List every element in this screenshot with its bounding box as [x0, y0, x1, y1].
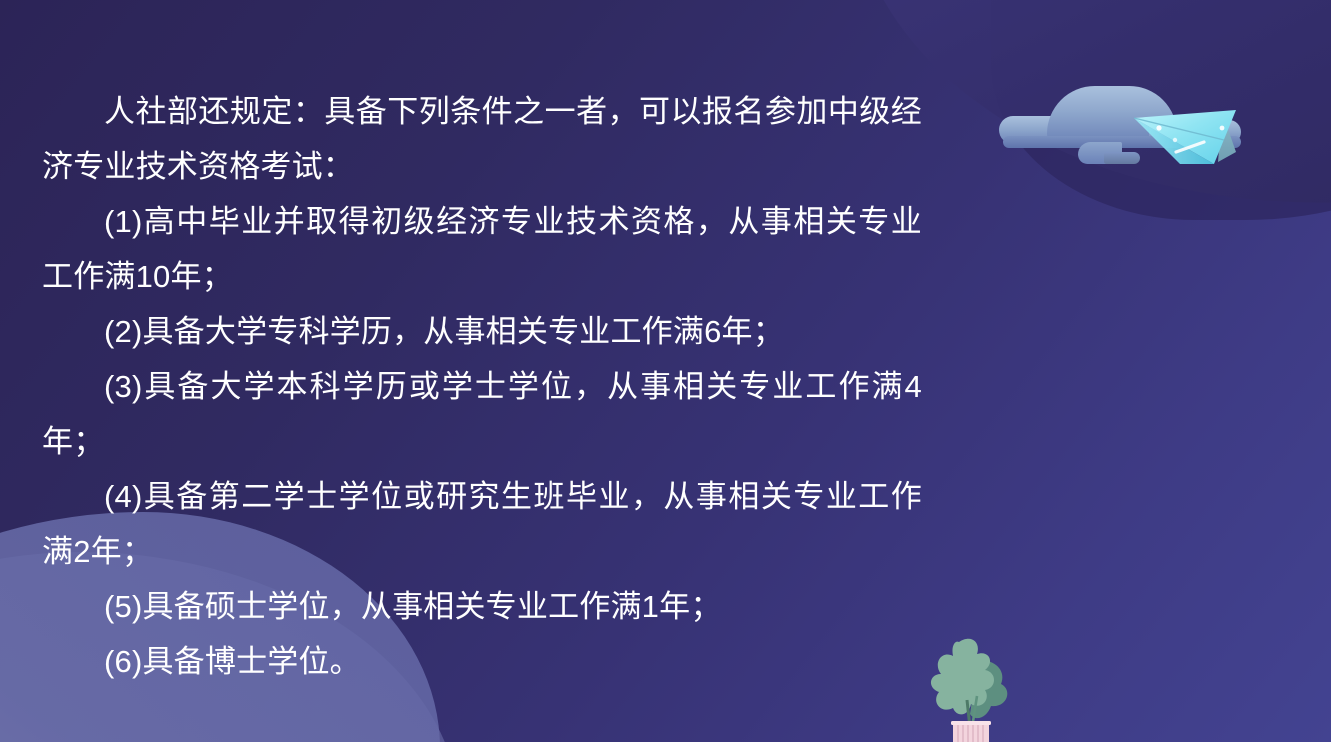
paragraph-item-4: (4)具备第二学士学位或研究生班毕业，从事相关专业工作满2年； [42, 469, 922, 579]
cloud-large-icon [999, 86, 1241, 156]
presentation-slide: 人社部还规定：具备下列条件之一者，可以报名参加中级经济专业技术资格考试： (1)… [0, 0, 1331, 742]
paragraph-item-3: (3)具备大学本科学历或学士学位，从事相关专业工作满4年； [42, 359, 922, 469]
top-right-background-wave-back [991, 0, 1331, 220]
cloud-small-icon [1078, 142, 1140, 168]
potted-plant-icon [915, 630, 1025, 742]
top-right-background-wave [851, 0, 1331, 260]
paragraph-intro: 人社部还规定：具备下列条件之一者，可以报名参加中级经济专业技术资格考试： [42, 84, 922, 194]
slide-body-text: 人社部还规定：具备下列条件之一者，可以报名参加中级经济专业技术资格考试： (1)… [42, 84, 922, 689]
paragraph-item-5: (5)具备硕士学位，从事相关专业工作满1年； [42, 579, 922, 634]
paragraph-item-1: (1)高中毕业并取得初级经济专业技术资格，从事相关专业工作满10年； [42, 194, 922, 304]
paragraph-item-6: (6)具备博士学位。 [42, 634, 922, 689]
paper-plane-icon [1118, 52, 1318, 182]
paragraph-item-2: (2)具备大学专科学历，从事相关专业工作满6年； [42, 304, 922, 359]
